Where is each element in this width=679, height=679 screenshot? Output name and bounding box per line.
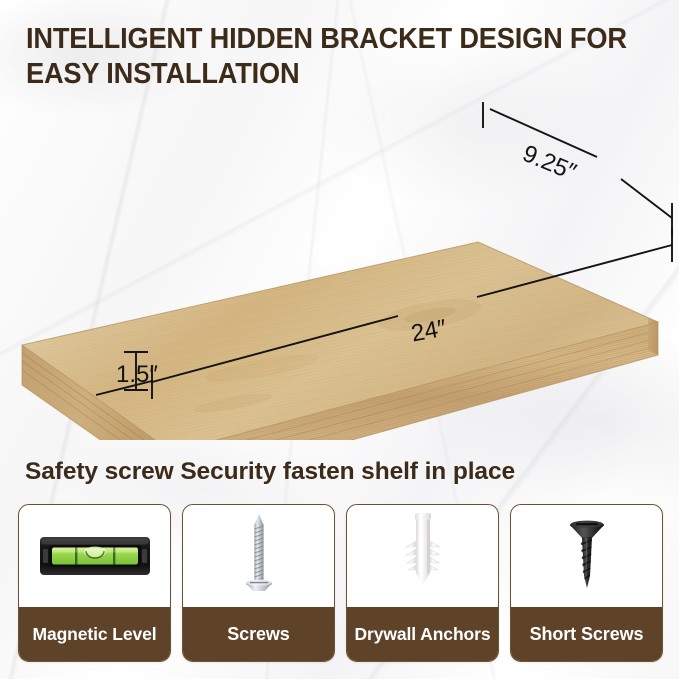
card-footer: Screws: [183, 607, 334, 661]
accessory-label-magnetic-level: Magnetic Level: [32, 624, 156, 644]
section-subtitle: Safety screw Security fasten shelf in pl…: [25, 458, 515, 486]
long-screw-icon: [236, 512, 282, 600]
dimension-label-height: 1.5″: [116, 361, 158, 389]
accessory-label-screws: Screws: [227, 624, 289, 644]
page-title: INTELLIGENT HIDDEN BRACKET DESIGN FOR EA…: [26, 22, 637, 92]
accessory-label-drywall-anchors: Drywall Anchors: [355, 624, 491, 644]
accessory-label-short-screws: Short Screws: [530, 624, 644, 644]
accessory-card-short-screws[interactable]: Short Screws: [510, 504, 663, 662]
accessory-card-list: Magnetic Level: [18, 504, 663, 662]
card-artwork: [511, 505, 662, 607]
accessory-card-magnetic-level[interactable]: Magnetic Level: [18, 504, 171, 662]
card-footer: Drywall Anchors: [347, 607, 498, 661]
leader-depth-lower: [621, 179, 672, 218]
card-artwork: [347, 505, 498, 607]
card-artwork: [183, 505, 334, 607]
card-artwork: [19, 505, 170, 607]
product-hero: [0, 100, 679, 440]
card-footer: Short Screws: [511, 607, 662, 661]
card-footer: Magnetic Level: [19, 607, 170, 661]
product-infographic: INTELLIGENT HIDDEN BRACKET DESIGN FOR EA…: [0, 0, 679, 679]
accessory-card-drywall-anchors[interactable]: Drywall Anchors: [346, 504, 499, 662]
shelf-illustration: [0, 100, 679, 440]
drywall-anchor-icon: [397, 511, 449, 601]
accessory-card-screws[interactable]: Screws: [182, 504, 335, 662]
short-screw-icon: [559, 518, 615, 594]
magnetic-level-icon: [39, 532, 151, 580]
